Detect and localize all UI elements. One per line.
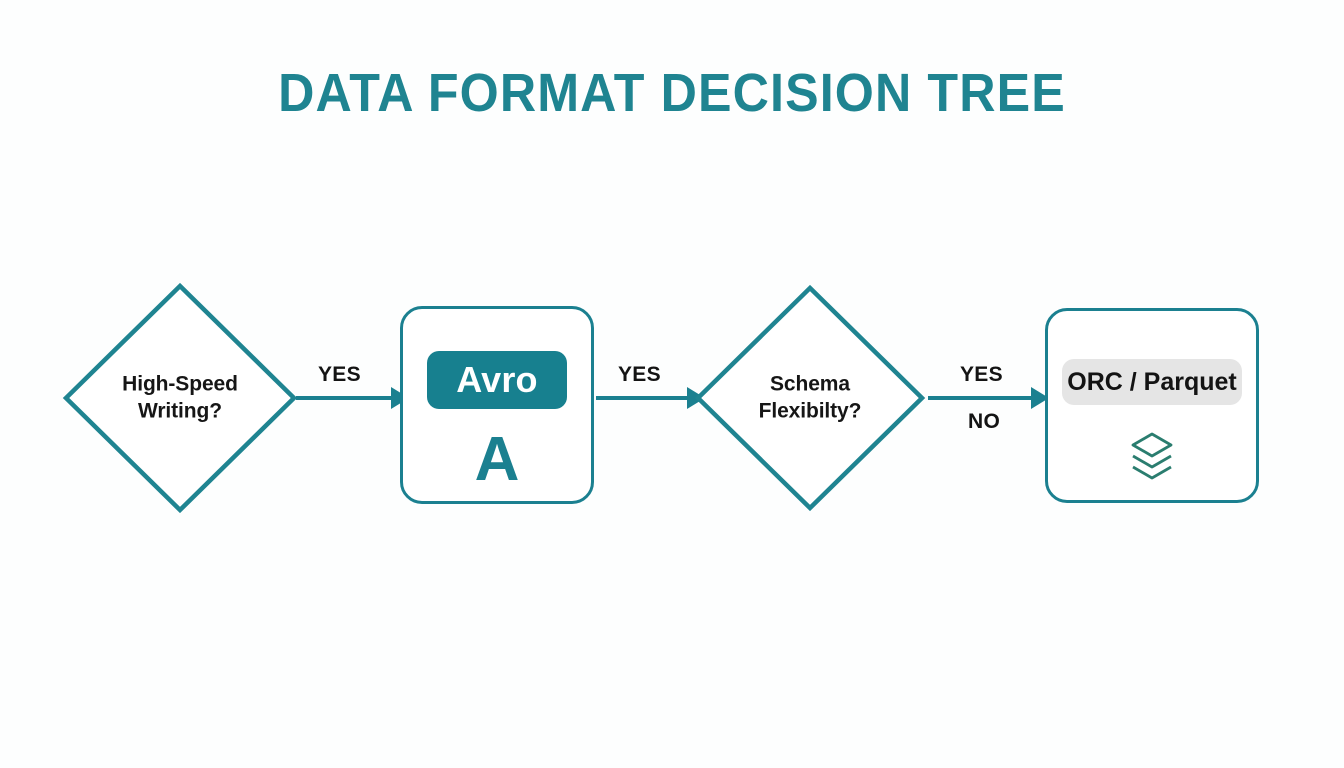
edge-label-yes: YES xyxy=(318,363,361,387)
edge-label-yes: YES xyxy=(960,363,1003,387)
edge-avro-to-schema-flexibility: YES xyxy=(596,368,706,428)
diagram-canvas: DATA FORMAT DECISION TREE High-Speed Wri… xyxy=(0,0,1344,768)
decision-label-schema-flexibility: Schema Flexibilty? xyxy=(710,371,910,426)
avro-chip: Avro xyxy=(427,351,567,409)
decision-label-line-1: High-Speed xyxy=(80,371,280,398)
edge-label-yes: YES xyxy=(618,363,661,387)
outcome-node-avro[interactable]: Avro A xyxy=(400,306,594,504)
edge-high-speed-writing-to-avro: YES xyxy=(296,368,408,428)
decision-node-high-speed-writing[interactable]: High-Speed Writing? xyxy=(62,282,298,514)
decision-label-line-2: Writing? xyxy=(80,398,280,425)
edge-label-no: NO xyxy=(968,410,1000,434)
edge-schema-flexibility-to-orc-parquet: YES NO xyxy=(928,368,1050,428)
orc-parquet-chip: ORC / Parquet xyxy=(1062,359,1242,405)
page-title: DATA FORMAT DECISION TREE xyxy=(47,62,1297,124)
decision-label-high-speed-writing: High-Speed Writing? xyxy=(80,371,280,426)
layers-stack-icon xyxy=(1127,429,1177,490)
decision-label-line-1: Schema xyxy=(710,371,910,398)
avro-letter-glyph: A xyxy=(475,429,520,491)
outcome-node-orc-parquet[interactable]: ORC / Parquet xyxy=(1045,308,1259,503)
decision-label-line-2: Flexibilty? xyxy=(710,398,910,425)
decision-node-schema-flexibility[interactable]: Schema Flexibilty? xyxy=(694,284,926,512)
